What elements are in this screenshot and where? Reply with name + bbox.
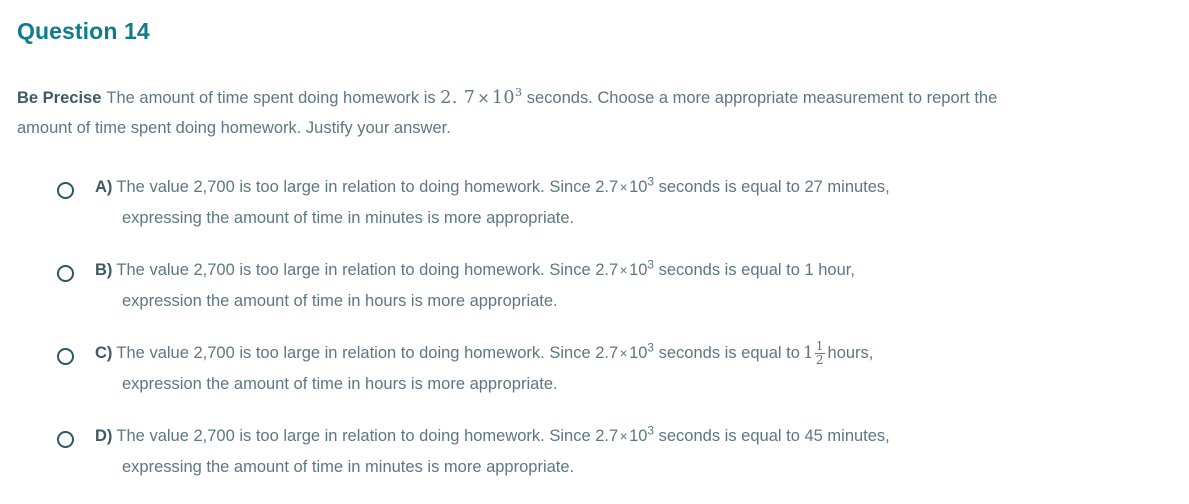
stem-text-before-math: The amount of time spent doing homework …	[106, 89, 435, 107]
option-c-text: C)The value 2,700 is too large in relati…	[95, 338, 873, 400]
option-a-scientific-notation: 2.7×103	[595, 178, 654, 196]
option-b-line1-after-math: seconds is equal to 1 hour,	[659, 261, 855, 279]
multiplication-sign: ×	[618, 346, 629, 361]
option-b[interactable]: B)The value 2,700 is too large in relati…	[0, 255, 1189, 317]
math-mantissa: 2.7	[595, 344, 618, 362]
option-a-line2: expressing the amount of time in minutes…	[95, 203, 890, 234]
math-base: 10	[492, 88, 515, 108]
fraction-denominator: 2	[815, 353, 825, 367]
math-mantissa: 2. 7	[440, 88, 475, 108]
option-b-text: B)The value 2,700 is too large in relati…	[95, 255, 855, 317]
radio-unselected-icon[interactable]	[57, 265, 74, 282]
option-c-line1-mid: seconds is equal to	[659, 344, 800, 362]
option-a-line1-before-math: The value 2,700 is too large in relation…	[116, 178, 590, 196]
mixed-number-whole: 1	[803, 343, 814, 363]
option-d-line1-before-math: The value 2,700 is too large in relation…	[116, 427, 590, 445]
math-mantissa: 2.7	[595, 427, 618, 445]
math-exponent: 3	[647, 424, 654, 438]
math-exponent: 3	[515, 85, 522, 99]
scientific-notation-math: 2. 7×103	[440, 88, 522, 108]
option-c-scientific-notation: 2.7×103	[595, 344, 654, 362]
multiplication-sign: ×	[618, 180, 629, 195]
option-d[interactable]: D)The value 2,700 is too large in relati…	[0, 421, 1189, 483]
mixed-number-math: 112	[800, 338, 828, 369]
multiplication-sign: ×	[618, 429, 629, 444]
option-b-letter: B)	[95, 261, 112, 279]
question-page: Question 14 Be PreciseThe amount of time…	[0, 0, 1189, 492]
option-a[interactable]: A)The value 2,700 is too large in relati…	[0, 172, 1189, 234]
multiplication-sign: ×	[475, 89, 492, 107]
fraction: 12	[815, 340, 825, 367]
question-stem: Be PreciseThe amount of time spent doing…	[17, 83, 1027, 143]
math-exponent: 3	[647, 341, 654, 355]
math-exponent: 3	[647, 258, 654, 272]
option-c-line1-before-math: The value 2,700 is too large in relation…	[116, 344, 590, 362]
multiplication-sign: ×	[618, 263, 629, 278]
option-a-line1-after-math: seconds is equal to 27 minutes,	[659, 178, 890, 196]
option-b-scientific-notation: 2.7×103	[595, 261, 654, 279]
radio-unselected-icon[interactable]	[57, 182, 74, 199]
math-mantissa: 2.7	[595, 261, 618, 279]
option-d-text: D)The value 2,700 is too large in relati…	[95, 421, 890, 483]
option-c[interactable]: C)The value 2,700 is too large in relati…	[0, 338, 1189, 400]
answer-options-list: A)The value 2,700 is too large in relati…	[0, 172, 1189, 504]
math-base: 10	[629, 261, 647, 279]
math-exponent: 3	[647, 175, 654, 189]
option-d-letter: D)	[95, 427, 112, 445]
radio-unselected-icon[interactable]	[57, 431, 74, 448]
option-d-line2: expressing the amount of time in minutes…	[95, 452, 890, 483]
math-mantissa: 2.7	[595, 178, 618, 196]
math-base: 10	[629, 427, 647, 445]
option-c-line1-after-math: hours,	[828, 344, 874, 362]
option-a-text: A)The value 2,700 is too large in relati…	[95, 172, 890, 234]
option-c-letter: C)	[95, 344, 112, 362]
option-a-letter: A)	[95, 178, 112, 196]
option-d-line1-after-math: seconds is equal to 45 minutes,	[659, 427, 890, 445]
fraction-numerator: 1	[815, 340, 825, 353]
math-base: 10	[629, 344, 647, 362]
option-b-line2: expression the amount of time in hours i…	[95, 286, 855, 317]
option-d-scientific-notation: 2.7×103	[595, 427, 654, 445]
stem-label: Be Precise	[17, 89, 101, 107]
radio-unselected-icon[interactable]	[57, 348, 74, 365]
math-base: 10	[629, 178, 647, 196]
page-title: Question 14	[17, 17, 150, 47]
option-c-line2: expression the amount of time in hours i…	[95, 369, 873, 400]
option-b-line1-before-math: The value 2,700 is too large in relation…	[116, 261, 590, 279]
